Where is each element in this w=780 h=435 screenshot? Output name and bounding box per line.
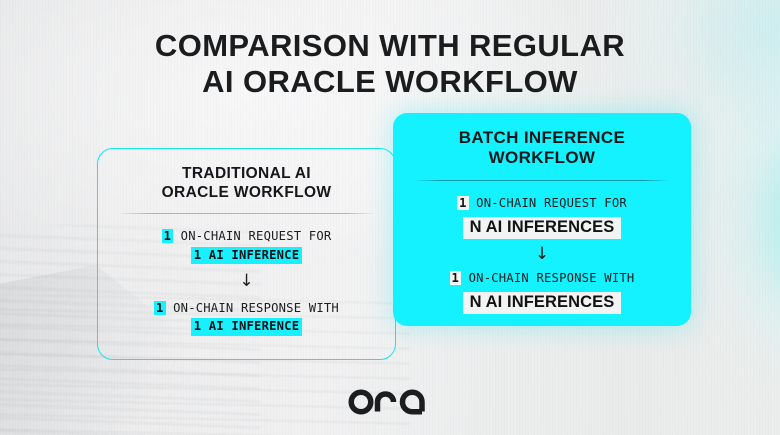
ora-logomark-icon <box>346 385 434 415</box>
traditional-request-row: 1 ON-CHAIN REQUEST FOR <box>98 228 395 245</box>
batch-request-emphasis-row: N AI INFERENCES <box>393 212 691 239</box>
batch-request-row: 1 ON-CHAIN REQUEST FOR <box>393 195 691 212</box>
batch-response-emphasis: N AI INFERENCES <box>463 292 622 314</box>
traditional-response-label: ON-CHAIN RESPONSE WITH <box>173 301 339 315</box>
traditional-workflow-steps: 1 ON-CHAIN REQUEST FOR 1 AI INFERENCE ↓ … <box>98 228 395 335</box>
batch-response-emphasis-row: N AI INFERENCES <box>393 287 691 314</box>
traditional-request-emphasis-row: 1 AI INFERENCE <box>98 246 395 264</box>
batch-heading-line-2: WORKFLOW <box>393 148 691 168</box>
page-title: COMPARISON WITH REGULAR AI ORACLE WORKFL… <box>0 28 780 100</box>
traditional-workflow-card-heading: TRADITIONAL AI ORACLE WORKFLOW <box>98 165 395 202</box>
traditional-workflow-card[interactable]: TRADITIONAL AI ORACLE WORKFLOW 1 ON-CHAI… <box>97 148 396 360</box>
traditional-flow-arrow-down-icon: ↓ <box>98 273 395 290</box>
traditional-request-label: ON-CHAIN REQUEST FOR <box>181 229 332 243</box>
traditional-request-count-badge: 1 <box>162 229 174 243</box>
traditional-card-divider <box>118 213 376 214</box>
page-title-line-1: COMPARISON WITH REGULAR <box>0 28 780 64</box>
batch-workflow-steps: 1 ON-CHAIN REQUEST FOR N AI INFERENCES ↓… <box>393 195 691 315</box>
batch-flow-arrow-down-icon: ↓ <box>393 246 691 263</box>
traditional-request-emphasis: 1 AI INFERENCE <box>191 247 303 264</box>
traditional-response-count-badge: 1 <box>154 301 166 315</box>
traditional-response-emphasis-row: 1 AI INFERENCE <box>98 317 395 335</box>
slide-canvas: COMPARISON WITH REGULAR AI ORACLE WORKFL… <box>0 0 780 435</box>
batch-request-label: ON-CHAIN REQUEST FOR <box>476 196 627 210</box>
batch-inference-workflow-card[interactable]: BATCH INFERENCE WORKFLOW 1 ON-CHAIN REQU… <box>393 113 691 326</box>
page-title-line-2: AI ORACLE WORKFLOW <box>0 64 780 100</box>
traditional-response-emphasis: 1 AI INFERENCE <box>191 318 303 335</box>
batch-response-row: 1 ON-CHAIN RESPONSE WITH <box>393 270 691 287</box>
batch-response-label: ON-CHAIN RESPONSE WITH <box>469 271 635 285</box>
batch-request-count-badge: 1 <box>457 196 469 210</box>
traditional-response-row: 1 ON-CHAIN RESPONSE WITH <box>98 300 395 317</box>
batch-card-divider <box>415 180 670 181</box>
batch-request-emphasis: N AI INFERENCES <box>463 217 622 239</box>
batch-response-count-badge: 1 <box>450 271 462 285</box>
ora-logo: ora <box>0 385 780 415</box>
batch-workflow-card-heading: BATCH INFERENCE WORKFLOW <box>393 128 691 169</box>
traditional-heading-line-2: ORACLE WORKFLOW <box>98 184 395 203</box>
traditional-heading-line-1: TRADITIONAL AI <box>98 165 395 184</box>
batch-heading-line-1: BATCH INFERENCE <box>393 128 691 148</box>
